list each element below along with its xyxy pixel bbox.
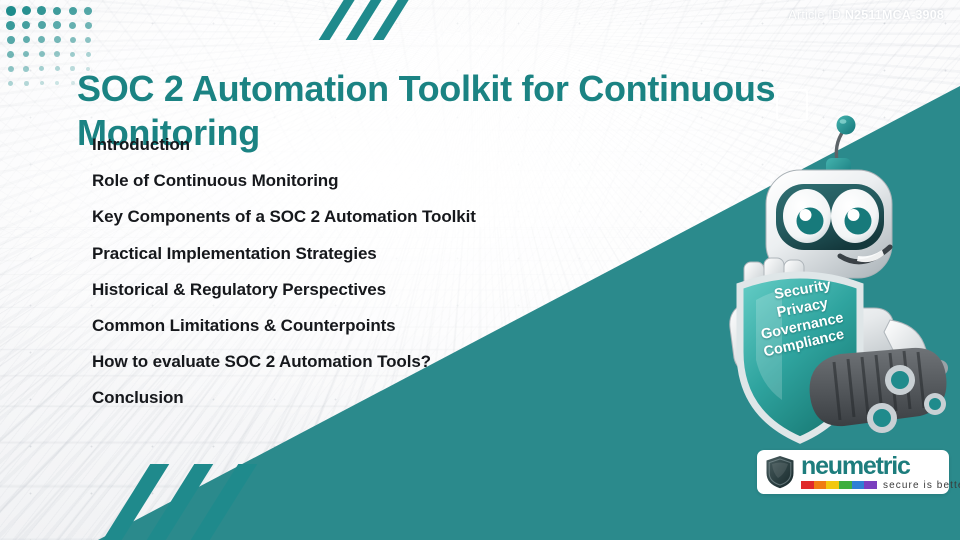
robot-eye-glint-right <box>848 209 860 221</box>
dot-matrix-dot <box>69 7 77 15</box>
dot-matrix-dot <box>6 21 15 30</box>
dot-matrix-dot <box>69 22 76 29</box>
rainbow-segment <box>814 481 827 489</box>
dot-matrix-dot <box>7 36 15 44</box>
dot-matrix-dot <box>70 37 76 43</box>
robot-antenna-ball <box>837 116 856 135</box>
dot-matrix-dot <box>54 36 61 43</box>
dot-matrix-dot <box>23 36 30 43</box>
agenda-item: Conclusion <box>92 389 712 406</box>
rainbow-segment <box>826 481 839 489</box>
agenda-item: Historical & Regulatory Perspectives <box>92 281 712 298</box>
dot-matrix-dot <box>24 81 29 86</box>
dot-matrix-dot <box>38 21 46 29</box>
agenda-item: Key Components of a SOC 2 Automation Too… <box>92 208 712 225</box>
article-id: Article ID N2511MCA-3908 <box>788 8 944 22</box>
dot-matrix-dot <box>86 52 91 57</box>
dot-matrix-dot <box>54 51 60 57</box>
robot-illustration <box>722 108 960 448</box>
agenda-item: Introduction <box>92 136 712 153</box>
logo-rainbow-bar <box>801 481 877 489</box>
dot-matrix-dot <box>6 6 16 16</box>
dot-matrix-dot <box>71 81 75 85</box>
article-id-label: Article ID <box>788 8 841 22</box>
logo-shield-icon <box>765 455 795 489</box>
logo-subline: secure is better <box>801 480 960 491</box>
robot-roller-3-cap <box>929 398 941 410</box>
rainbow-segment <box>852 481 865 489</box>
agenda-list: IntroductionRole of Continuous Monitorin… <box>92 136 712 426</box>
dot-matrix-dot <box>40 81 44 85</box>
presentation-slide: Article ID N2511MCA-3908 SOC 2 Automatio… <box>0 0 960 540</box>
brand-logo[interactable]: neumetric secure is better <box>757 450 949 494</box>
agenda-item: Practical Implementation Strategies <box>92 245 712 262</box>
dot-matrix-dot <box>23 66 29 72</box>
dot-matrix-dot <box>39 66 44 71</box>
logo-tagline: secure is better <box>883 480 960 491</box>
dot-matrix-dot <box>22 6 31 15</box>
dot-matrix-dot <box>37 6 46 15</box>
dot-matrix-dot <box>55 66 60 71</box>
dot-matrix-dot <box>7 51 14 58</box>
dot-matrix-dot <box>85 37 91 43</box>
dot-matrix-dot <box>39 51 45 57</box>
agenda-item: Role of Continuous Monitoring <box>92 172 712 189</box>
robot-roller-1-cap <box>891 371 909 389</box>
rainbow-segment <box>864 481 877 489</box>
dot-matrix-dot <box>53 21 61 29</box>
dot-matrix-dot <box>55 81 59 85</box>
agenda-item: Common Limitations & Counterpoints <box>92 317 712 334</box>
dot-matrix-dot <box>38 36 45 43</box>
robot-roller-2-cap <box>873 409 891 427</box>
logo-text-block: neumetric secure is better <box>801 454 960 491</box>
dot-matrix-dot <box>70 66 75 71</box>
dot-matrix-dot <box>70 52 75 57</box>
dot-matrix-dot <box>85 22 92 29</box>
rainbow-segment <box>801 481 814 489</box>
dot-matrix-dot <box>8 66 14 72</box>
dot-matrix-dot <box>84 7 92 15</box>
antenna-highlight <box>840 119 847 124</box>
robot-eye-glint-left <box>800 209 812 221</box>
dot-matrix-dot <box>8 81 13 86</box>
agenda-item: How to evaluate SOC 2 Automation Tools? <box>92 353 712 370</box>
dot-matrix-dot <box>22 21 30 29</box>
robot-mascot <box>722 108 960 448</box>
article-id-value: N2511MCA-3908 <box>845 8 944 22</box>
dot-matrix-dot <box>23 51 29 57</box>
logo-wordmark: neumetric <box>801 454 960 478</box>
dot-matrix-dot <box>53 7 61 15</box>
rainbow-segment <box>839 481 852 489</box>
